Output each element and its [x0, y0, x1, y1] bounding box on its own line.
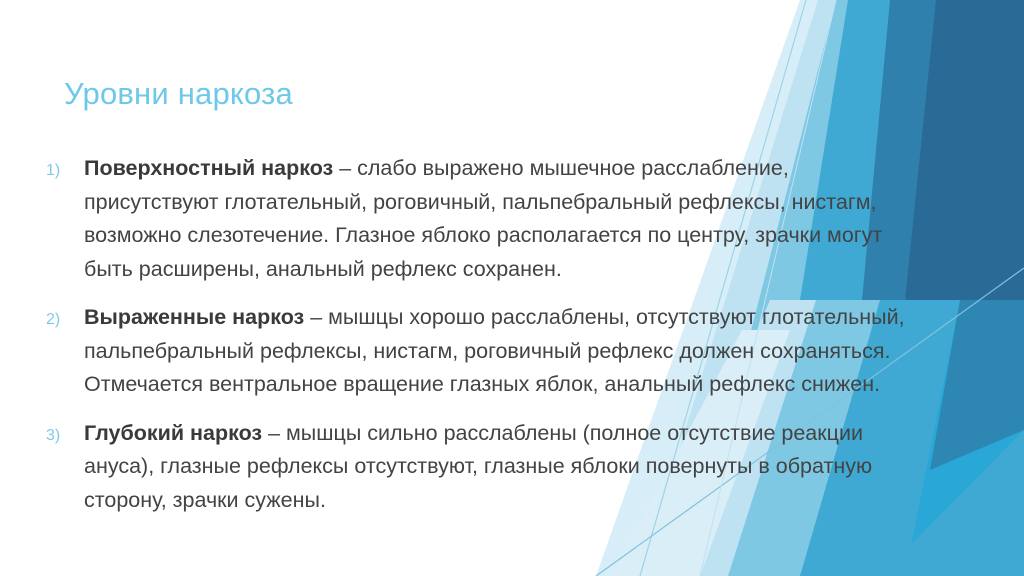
deco-shard-deepblue-right — [930, 160, 1024, 576]
list-item: 3) Глубокий наркоз – мышцы сильно рассла… — [46, 417, 926, 518]
list-item-lead: Глубокий наркоз — [84, 421, 262, 445]
list-item: 1) Поверхностный наркоз – слабо выражено… — [46, 152, 926, 286]
list-item: 2) Выраженные наркоз – мышцы хорошо расс… — [46, 301, 926, 402]
list-item-marker: 3) — [46, 419, 76, 453]
list-item-lead: Выраженные наркоз — [84, 305, 304, 329]
presentation-slide: Уровни наркоза 1) Поверхностный наркоз –… — [0, 0, 1024, 576]
list-item-lead: Поверхностный наркоз — [84, 156, 333, 180]
deco-shard-overlay-mid — [930, 300, 1024, 470]
slide-title: Уровни наркоза — [64, 76, 293, 112]
list-item-marker: 1) — [46, 154, 76, 188]
list-item-marker: 2) — [46, 303, 76, 337]
anesthesia-levels-list: 1) Поверхностный наркоз – слабо выражено… — [46, 152, 926, 517]
